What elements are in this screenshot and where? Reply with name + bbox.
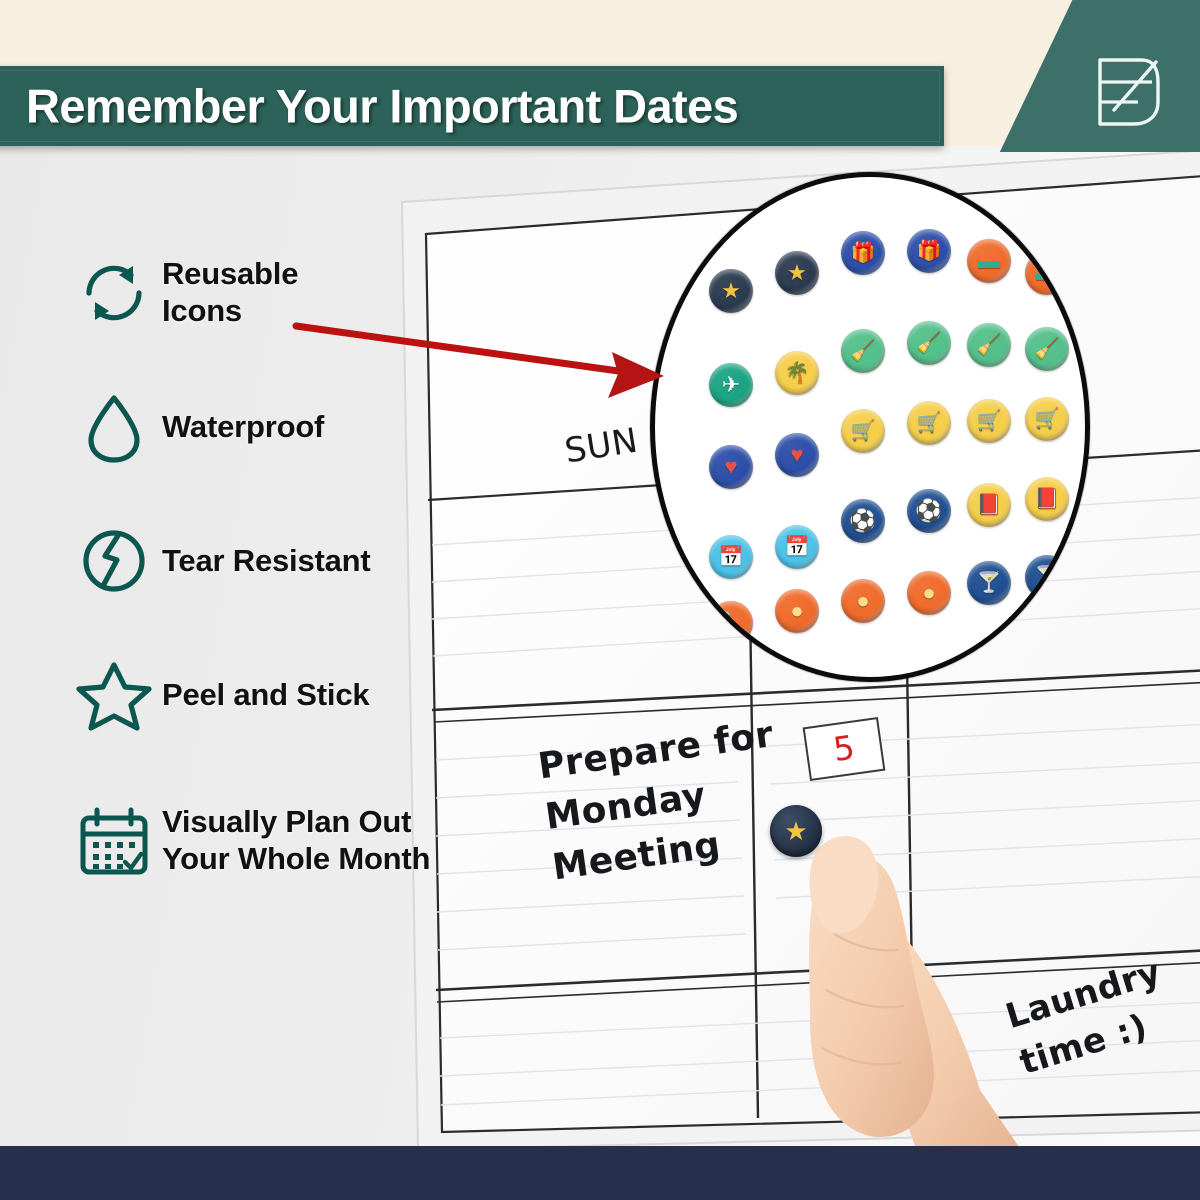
calendar-date-number: 5 bbox=[831, 727, 857, 769]
hand-illustration bbox=[770, 800, 1030, 1160]
lightbulb-icon: ● bbox=[922, 582, 935, 604]
sticker-airplane[interactable]: ✈ bbox=[709, 363, 753, 407]
leaf-notepad-logo bbox=[1094, 52, 1164, 130]
sticker-money[interactable]: ▬ bbox=[1025, 251, 1069, 295]
sticker-gift[interactable]: 🎁 bbox=[841, 231, 885, 275]
title-banner: Remember Your Important Dates bbox=[0, 66, 944, 146]
broom-icon: 🧹 bbox=[917, 333, 942, 353]
cocktail-icon: 🍸 bbox=[1035, 567, 1060, 587]
sticker-heart[interactable]: ♥ bbox=[775, 433, 819, 477]
sticker-calendar[interactable]: 📅 bbox=[775, 525, 819, 569]
gift-icon: 🎁 bbox=[851, 243, 876, 263]
feature-label: Reusable Icons bbox=[162, 256, 298, 329]
sticker-cocktail[interactable]: 🍸 bbox=[1025, 555, 1069, 599]
book-icon: 📕 bbox=[1035, 489, 1060, 509]
sticker-lightbulb[interactable]: ● bbox=[775, 589, 819, 633]
footer-bar bbox=[0, 1146, 1200, 1200]
shopping-cart-icon: 🛒 bbox=[917, 413, 942, 433]
calendar-date-box: 5 bbox=[803, 717, 886, 781]
money-icon: ▬ bbox=[978, 250, 1000, 272]
feature-label: Visually Plan Out Your Whole Month bbox=[162, 804, 430, 877]
gift-icon: 🎁 bbox=[917, 241, 942, 261]
sticker-palm-tree[interactable]: 🌴 bbox=[775, 351, 819, 395]
airplane-icon: ✈ bbox=[722, 374, 740, 396]
sticker-money[interactable]: ▬ bbox=[967, 239, 1011, 283]
book-icon: 📕 bbox=[977, 495, 1002, 515]
sticker-gift[interactable]: 🎁 bbox=[907, 229, 951, 273]
calendar-icon: 📅 bbox=[785, 537, 810, 557]
feature-label: Waterproof bbox=[162, 409, 324, 446]
sticker-grid: ★★🎁🎁▬▬✈🌴🧹🧹🧹🧹♥♥🛒🛒🛒🛒📅📅⚽⚽📕📕🔧●●●🍸🍸 bbox=[655, 177, 1085, 677]
sticker-shopping-cart[interactable]: 🛒 bbox=[907, 401, 951, 445]
feature-list: Reusable Icons Waterproof Tear Resistant bbox=[66, 250, 536, 944]
sticker-calendar[interactable]: 📅 bbox=[709, 535, 753, 579]
feature-item-peel-and-stick: Peel and Stick bbox=[66, 652, 536, 738]
header-cream-top bbox=[0, 0, 1200, 64]
sticker-lightbulb[interactable]: ● bbox=[841, 579, 885, 623]
feature-item-waterproof: Waterproof bbox=[66, 384, 536, 470]
infographic-stage: SUN Prepare for Monday Meeting 5 Laundry… bbox=[0, 0, 1200, 1200]
sticker-tools[interactable]: 🔧 bbox=[709, 601, 753, 645]
star-icon: ★ bbox=[787, 262, 807, 284]
broom-icon: 🧹 bbox=[851, 341, 876, 361]
lightbulb-icon: ● bbox=[790, 600, 803, 622]
sticker-sports-ball[interactable]: ⚽ bbox=[841, 499, 885, 543]
sticker-lightbulb[interactable]: ● bbox=[907, 571, 951, 615]
page-title: Remember Your Important Dates bbox=[26, 79, 738, 134]
broom-icon: 🧹 bbox=[1035, 339, 1060, 359]
sports-ball-icon: ⚽ bbox=[915, 500, 942, 522]
feature-item-visually-plan: Visually Plan Out Your Whole Month bbox=[66, 786, 536, 896]
heart-icon: ♥ bbox=[724, 456, 737, 478]
star-outline-icon bbox=[66, 656, 162, 734]
feature-label: Peel and Stick bbox=[162, 677, 369, 714]
sticker-book[interactable]: 📕 bbox=[1025, 477, 1069, 521]
cocktail-icon: 🍸 bbox=[977, 573, 1002, 593]
sticker-shopping-cart[interactable]: 🛒 bbox=[967, 399, 1011, 443]
calendar-grid-icon bbox=[66, 802, 162, 880]
feature-label: Tear Resistant bbox=[162, 543, 371, 580]
sports-ball-icon: ⚽ bbox=[849, 510, 876, 532]
shopping-cart-icon: 🛒 bbox=[977, 411, 1002, 431]
sticker-broom[interactable]: 🧹 bbox=[1025, 327, 1069, 371]
sticker-shopping-cart[interactable]: 🛒 bbox=[1025, 397, 1069, 441]
sticker-book[interactable]: 📕 bbox=[967, 483, 1011, 527]
lightbulb-icon: ● bbox=[856, 590, 869, 612]
sticker-star[interactable]: ★ bbox=[775, 251, 819, 295]
sticker-heart[interactable]: ♥ bbox=[709, 445, 753, 489]
refresh-cycle-icon bbox=[66, 254, 162, 332]
palm-tree-icon: 🌴 bbox=[785, 363, 810, 383]
sticker-broom[interactable]: 🧹 bbox=[907, 321, 951, 365]
sticker-broom[interactable]: 🧹 bbox=[841, 329, 885, 373]
shopping-cart-icon: 🛒 bbox=[851, 421, 876, 441]
water-drop-icon bbox=[66, 388, 162, 466]
star-icon: ★ bbox=[721, 280, 741, 302]
sticker-cocktail[interactable]: 🍸 bbox=[967, 561, 1011, 605]
broom-icon: 🧹 bbox=[977, 335, 1002, 355]
torn-circle-icon bbox=[66, 522, 162, 600]
held-star-sticker[interactable]: ★ bbox=[770, 805, 822, 857]
calendar-icon: 📅 bbox=[719, 547, 744, 567]
calendar-note-prepare: Prepare for Monday Meeting bbox=[535, 709, 791, 894]
sticker-broom[interactable]: 🧹 bbox=[967, 323, 1011, 367]
sticker-star[interactable]: ★ bbox=[709, 269, 753, 313]
star-icon: ★ bbox=[784, 816, 807, 847]
heart-icon: ♥ bbox=[790, 444, 803, 466]
feature-item-reusable-icons: Reusable Icons bbox=[66, 250, 536, 336]
sticker-sports-ball[interactable]: ⚽ bbox=[907, 489, 951, 533]
sticker-magnifier: ★★🎁🎁▬▬✈🌴🧹🧹🧹🧹♥♥🛒🛒🛒🛒📅📅⚽⚽📕📕🔧●●●🍸🍸 bbox=[650, 172, 1090, 682]
money-icon: ▬ bbox=[1036, 262, 1058, 284]
tools-icon: 🔧 bbox=[719, 613, 744, 633]
sticker-shopping-cart[interactable]: 🛒 bbox=[841, 409, 885, 453]
feature-item-tear-resistant: Tear Resistant bbox=[66, 518, 536, 604]
shopping-cart-icon: 🛒 bbox=[1035, 409, 1060, 429]
